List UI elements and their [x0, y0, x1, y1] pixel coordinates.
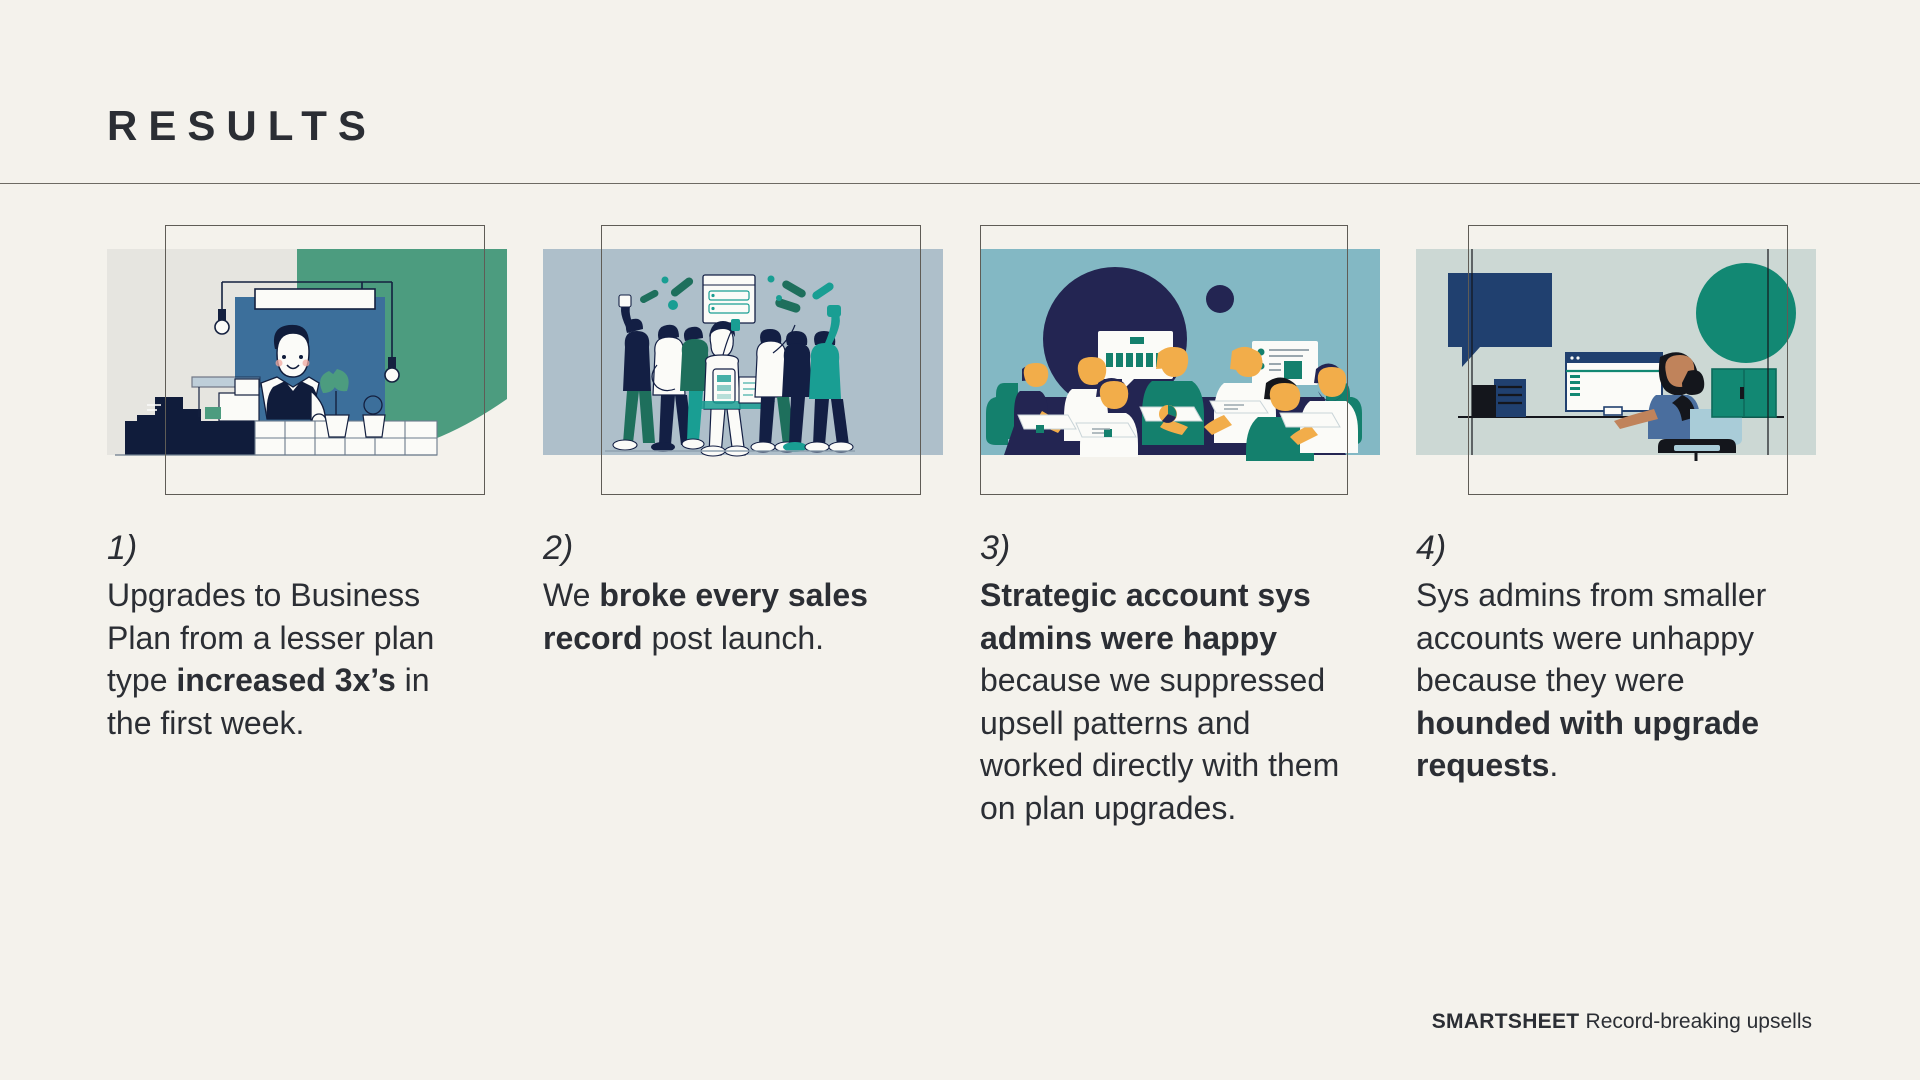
result-item-1: 1) Upgrades to Business Plan from a less…	[107, 225, 507, 744]
item-body-1: Upgrades to Business Plan from a lesser …	[107, 574, 477, 744]
shop-counter-illustration	[107, 249, 507, 481]
footer-subtitle: Record-breaking upsells	[1586, 1010, 1812, 1033]
result-item-3: 3) Strategic account sys admins were hap…	[980, 225, 1380, 829]
footer-brand: SMARTSHEET	[1432, 1010, 1586, 1033]
header-divider	[0, 183, 1920, 184]
item-index-3: 3)	[980, 529, 1380, 568]
item-index-2: 2)	[543, 529, 943, 568]
item-body-3: Strategic account sys admins were happy …	[980, 574, 1350, 829]
item-body-2: We broke every sales record post launch.	[543, 574, 913, 659]
illustration-2-wrap	[543, 225, 943, 495]
result-item-4: 4) Sys admins from smaller accounts were…	[1416, 225, 1816, 787]
illustration-3-wrap	[980, 225, 1380, 495]
illustration-4-wrap	[1416, 225, 1816, 495]
item-index-4: 4)	[1416, 529, 1816, 568]
sys-admin-desk-illustration	[1416, 249, 1816, 481]
item-index-1: 1)	[107, 529, 507, 568]
footer: SMARTSHEET Record-breaking upsells	[1432, 1010, 1812, 1034]
page-title: RESULTS	[107, 105, 377, 147]
item-body-4: Sys admins from smaller accounts were un…	[1416, 574, 1786, 787]
illustration-1-wrap	[107, 225, 507, 495]
team-meeting-illustration	[980, 249, 1380, 481]
team-celebration-illustration	[543, 249, 943, 481]
result-item-2: 2) We broke every sales record post laun…	[543, 225, 943, 659]
